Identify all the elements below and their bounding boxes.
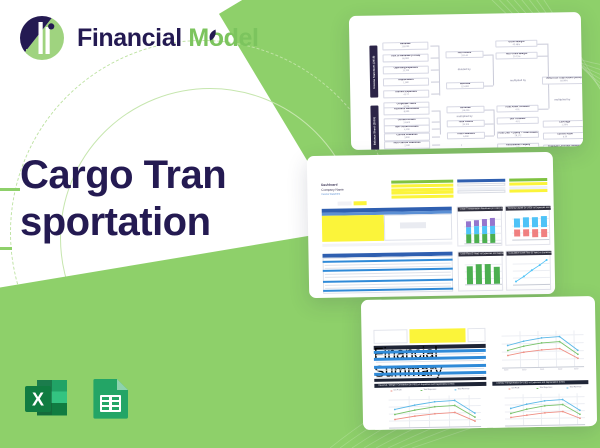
calc-block xyxy=(467,328,485,342)
revenue-cost-stacked-bar: Cargo Transportation Revenues (in USD) v… xyxy=(457,206,503,247)
input-range[interactable] xyxy=(409,328,465,343)
dupont-operator: divided by xyxy=(458,68,471,71)
input-cell[interactable] xyxy=(354,201,367,205)
file-format-icons: X xyxy=(20,372,136,424)
dupont-operator: multiplied by xyxy=(457,115,473,118)
dupont-node: Revenue 115,000 xyxy=(446,106,484,114)
google-sheets-icon[interactable] xyxy=(84,372,136,424)
data-cell xyxy=(457,190,505,194)
dupont-sidebar-balance: Balance Sheet (2019) xyxy=(370,106,379,150)
input-range[interactable] xyxy=(322,215,384,242)
brand-logo: Financial Model xyxy=(18,14,259,62)
dupont-node: Interest Expenses 4,177 xyxy=(383,90,429,99)
reports-card[interactable]: Financial Summary xyxy=(361,296,597,430)
table-total-row xyxy=(322,242,452,247)
dupont-sidebar-income: Income Statement (2019) xyxy=(369,46,378,98)
dupont-node: Operating Expenses 13,700 xyxy=(383,66,429,75)
dupont-tree: Income Statement (2019) Balance Sheet (2… xyxy=(355,18,577,144)
dupont-node: Current Ratio 6.30 xyxy=(543,132,583,140)
dupont-diagram-card[interactable]: Income Statement (2019) Balance Sheet (2… xyxy=(349,12,583,150)
dashboard-company: Company Name xyxy=(321,189,343,193)
dupont-node: Revenue 115,000 xyxy=(446,82,484,90)
dupont-node: Cost of Revenue (COGS) 65,000 xyxy=(383,54,429,63)
reports-sheet: Financial Summary xyxy=(367,302,591,424)
input-cell[interactable] xyxy=(509,189,547,193)
green-tick-left-1 xyxy=(0,188,20,191)
green-tick-left-2 xyxy=(0,247,12,250)
dashboard-sheet: Dashboard Company Name Income Statement xyxy=(313,158,549,292)
microsoft-excel-icon[interactable]: X xyxy=(20,372,72,424)
cash-flow-bar-chart: Cash Flow (5 Year) vs Expenses and Depre… xyxy=(457,251,503,292)
dupont-node: Self Turnover 4.01 xyxy=(497,117,539,125)
dupont-operator: / xyxy=(461,144,462,147)
dupont-node: Total Assets 28,700 xyxy=(447,120,485,128)
dupont-node: Revenue 115,000 xyxy=(382,42,428,51)
dupont-node: Gross Margin 43.48% xyxy=(495,40,537,48)
label-block xyxy=(373,329,407,344)
highlight-cell xyxy=(400,222,426,228)
circular-bar-chart-logo-icon xyxy=(18,14,66,62)
dupont-operator: multiplied by xyxy=(554,98,570,101)
chart-title-bar: CARGO Transportation (in USD) vs Expense… xyxy=(492,380,588,386)
chart-title-bar: Revenue / Margin / Conversion (in USD) v… xyxy=(374,382,486,388)
brand-name-part1: Financial xyxy=(77,24,182,52)
dupont-node: Total Liabilities 6,000 xyxy=(447,132,485,140)
label-cell xyxy=(338,201,352,205)
dupont-node: Depreciation 1,900 xyxy=(383,78,429,87)
input-cell[interactable] xyxy=(391,194,453,198)
revenue-trend-chart-top: 2019 2020 2021 2022 2023 xyxy=(491,326,588,376)
revenue-trend-chart-bottom-right: 2019 2020 2021 2022 2023 xyxy=(493,390,590,430)
dupont-node: Total Liab + Equity = Total Assets 28,17… xyxy=(497,131,539,139)
dupont-node: Leverage 1.29% xyxy=(543,120,583,128)
dashboard-note: Income Statement xyxy=(321,194,340,197)
svg-text:X: X xyxy=(32,390,44,410)
page-title: Cargo Transportation xyxy=(20,152,242,246)
dupont-node: Total Asset Turnover 4.01 xyxy=(496,105,538,113)
dupont-node: Net Profile Margin 20.73% xyxy=(496,52,538,60)
working-capital-waterfall: Working Capital (in USD) vs Expenses and… xyxy=(505,205,551,246)
table-footer xyxy=(374,377,486,382)
dupont-node: Non Current Liabilities 2,100 xyxy=(384,141,430,150)
revenue-trend-chart-bottom-left: 2019 2020 2021 2022 2023 xyxy=(375,392,488,430)
dashboard-card[interactable]: Dashboard Company Name Income Statement xyxy=(307,152,555,298)
slide-canvas: Financial Model Cargo Transportation X xyxy=(0,0,600,448)
dupont-operator: multiplied by xyxy=(510,79,526,82)
dupont-node-roa: Return on Total Assets (ROA) 83.08% xyxy=(542,76,583,85)
leaf-accent-icon xyxy=(208,29,217,42)
dupont-node: Net Income 24,144 xyxy=(445,51,483,59)
dupont-node: Accounts Receivable 8,900 xyxy=(383,107,429,116)
brand-name-part2: Model xyxy=(188,24,258,52)
cumulative-line-chart: Cumulative Cash Flow (5 Year) vs Expense… xyxy=(505,250,551,291)
brand-wordmark: Financial Model xyxy=(77,24,259,53)
